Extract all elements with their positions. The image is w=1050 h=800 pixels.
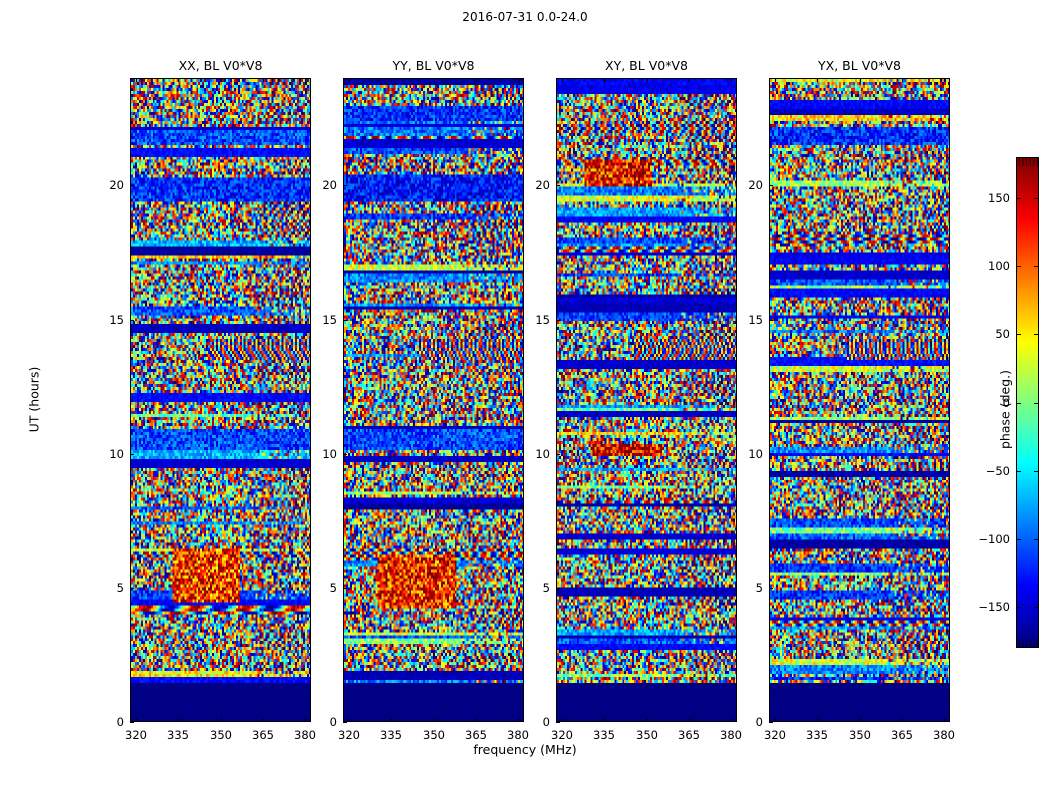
x-tick-mark <box>434 78 435 82</box>
y-tick-label: 5 <box>516 581 550 595</box>
y-tick-mark <box>130 185 134 186</box>
colorbar-tick-label: −100 <box>970 532 1010 546</box>
panel-title-xy: XY, BL V0*V8 <box>556 58 737 74</box>
x-tick-mark <box>476 718 477 722</box>
y-tick-label: 20 <box>303 178 337 192</box>
x-tick-mark <box>178 78 179 82</box>
y-tick-label: 0 <box>303 715 337 729</box>
panel-title-yx: YX, BL V0*V8 <box>769 58 950 74</box>
y-tick-mark <box>343 588 347 589</box>
x-tick-mark <box>434 718 435 722</box>
colorbar-tick-mark <box>1034 607 1039 608</box>
x-tick-mark <box>221 78 222 82</box>
x-tick-mark <box>178 718 179 722</box>
x-tick-mark <box>689 78 690 82</box>
x-tick-label: 380 <box>711 728 751 742</box>
panel-xx[interactable] <box>130 78 311 722</box>
y-tick-mark <box>556 454 560 455</box>
y-tick-label: 10 <box>303 447 337 461</box>
y-tick-mark <box>343 454 347 455</box>
x-tick-label: 350 <box>840 728 880 742</box>
x-tick-mark <box>944 718 945 722</box>
x-tick-mark <box>518 78 519 82</box>
colorbar-tick-label: −150 <box>970 600 1010 614</box>
x-tick-label: 350 <box>201 728 241 742</box>
x-tick-mark <box>562 718 563 722</box>
colorbar-tick-mark <box>1034 198 1039 199</box>
x-tick-mark <box>349 78 350 82</box>
x-tick-mark <box>604 718 605 722</box>
x-tick-label: 380 <box>924 728 964 742</box>
x-tick-mark <box>136 718 137 722</box>
x-tick-mark <box>817 78 818 82</box>
x-tick-label: 380 <box>285 728 325 742</box>
x-tick-label: 350 <box>627 728 667 742</box>
y-tick-mark <box>130 588 134 589</box>
x-tick-mark <box>305 78 306 82</box>
x-tick-mark <box>775 718 776 722</box>
y-tick-mark <box>130 454 134 455</box>
x-tick-mark <box>562 78 563 82</box>
y-axis-label: UT (hours) <box>27 320 42 480</box>
colorbar-tick-mark <box>1034 334 1039 335</box>
x-tick-label: 365 <box>669 728 709 742</box>
y-tick-label: 15 <box>729 313 763 327</box>
x-tick-mark <box>263 718 264 722</box>
x-tick-label: 320 <box>542 728 582 742</box>
panel-yx[interactable] <box>769 78 950 722</box>
colorbar-tick-label: 0 <box>970 396 1010 410</box>
panel-title-xx: XX, BL V0*V8 <box>130 58 311 74</box>
panel-yy[interactable] <box>343 78 524 722</box>
y-tick-mark <box>343 320 347 321</box>
x-tick-label: 380 <box>498 728 538 742</box>
colorbar-tick-mark <box>1016 334 1021 335</box>
x-tick-mark <box>689 718 690 722</box>
heatmap-image-yx <box>770 79 949 721</box>
x-tick-mark <box>902 718 903 722</box>
y-tick-label: 15 <box>303 313 337 327</box>
colorbar-tick-mark <box>1034 403 1039 404</box>
y-tick-mark <box>343 185 347 186</box>
y-tick-mark <box>769 185 773 186</box>
colorbar-tick-label: 150 <box>970 191 1010 205</box>
x-tick-mark <box>902 78 903 82</box>
x-tick-mark <box>944 78 945 82</box>
x-tick-label: 335 <box>158 728 198 742</box>
x-tick-mark <box>604 78 605 82</box>
x-tick-mark <box>647 718 648 722</box>
y-tick-label: 0 <box>90 715 124 729</box>
y-tick-label: 5 <box>90 581 124 595</box>
y-tick-mark <box>769 588 773 589</box>
y-tick-mark <box>556 185 560 186</box>
panel-title-yy: YY, BL V0*V8 <box>343 58 524 74</box>
colorbar-tick-mark <box>1016 198 1021 199</box>
x-tick-mark <box>263 78 264 82</box>
colorbar-tick-mark <box>1016 403 1021 404</box>
x-tick-label: 365 <box>243 728 283 742</box>
x-tick-mark <box>731 78 732 82</box>
x-tick-mark <box>221 718 222 722</box>
x-tick-mark <box>860 78 861 82</box>
x-tick-label: 320 <box>116 728 156 742</box>
y-tick-mark <box>556 588 560 589</box>
y-tick-label: 20 <box>729 178 763 192</box>
x-tick-label: 350 <box>414 728 454 742</box>
y-tick-mark <box>343 722 347 723</box>
colorbar-tick-label: 100 <box>970 259 1010 273</box>
colorbar-tick-mark <box>1034 539 1039 540</box>
x-tick-mark <box>391 718 392 722</box>
y-tick-label: 5 <box>729 581 763 595</box>
colorbar-tick-mark <box>1034 471 1039 472</box>
y-tick-label: 0 <box>729 715 763 729</box>
x-tick-mark <box>775 78 776 82</box>
y-tick-mark <box>130 722 134 723</box>
y-tick-label: 10 <box>729 447 763 461</box>
x-tick-label: 320 <box>329 728 369 742</box>
x-tick-label: 365 <box>882 728 922 742</box>
y-tick-mark <box>769 320 773 321</box>
colorbar-tick-mark <box>1034 266 1039 267</box>
panel-xy[interactable] <box>556 78 737 722</box>
x-tick-mark <box>817 718 818 722</box>
x-tick-label: 320 <box>755 728 795 742</box>
heatmap-image-yy <box>344 79 523 721</box>
colorbar-tick-mark <box>1016 266 1021 267</box>
y-tick-mark <box>556 722 560 723</box>
y-tick-label: 10 <box>90 447 124 461</box>
x-tick-mark <box>476 78 477 82</box>
x-tick-label: 365 <box>456 728 496 742</box>
colorbar-tick-mark <box>1016 471 1021 472</box>
figure-canvas: 2016-07-31 0.0-24.0 XX, BL V0*V8 YY, BL … <box>0 0 1050 800</box>
x-tick-mark <box>391 78 392 82</box>
colorbar-tick-label: −50 <box>970 464 1010 478</box>
colorbar-tick-label: 50 <box>970 327 1010 341</box>
y-tick-label: 0 <box>516 715 550 729</box>
x-tick-mark <box>647 78 648 82</box>
y-tick-label: 15 <box>516 313 550 327</box>
colorbar-tick-mark <box>1016 607 1021 608</box>
heatmap-image-xy <box>557 79 736 721</box>
y-tick-mark <box>556 320 560 321</box>
y-tick-label: 10 <box>516 447 550 461</box>
y-tick-label: 15 <box>90 313 124 327</box>
x-tick-label: 335 <box>371 728 411 742</box>
figure-suptitle: 2016-07-31 0.0-24.0 <box>0 10 1050 24</box>
colorbar-tick-mark <box>1016 539 1021 540</box>
y-tick-mark <box>769 454 773 455</box>
y-tick-mark <box>130 320 134 321</box>
y-tick-label: 5 <box>303 581 337 595</box>
x-tick-mark <box>136 78 137 82</box>
heatmap-image-xx <box>131 79 310 721</box>
x-tick-mark <box>349 718 350 722</box>
x-tick-label: 335 <box>584 728 624 742</box>
x-tick-mark <box>860 718 861 722</box>
x-tick-label: 335 <box>797 728 837 742</box>
y-tick-label: 20 <box>90 178 124 192</box>
x-axis-label: frequency (MHz) <box>0 742 1050 757</box>
y-tick-mark <box>769 722 773 723</box>
y-tick-label: 20 <box>516 178 550 192</box>
